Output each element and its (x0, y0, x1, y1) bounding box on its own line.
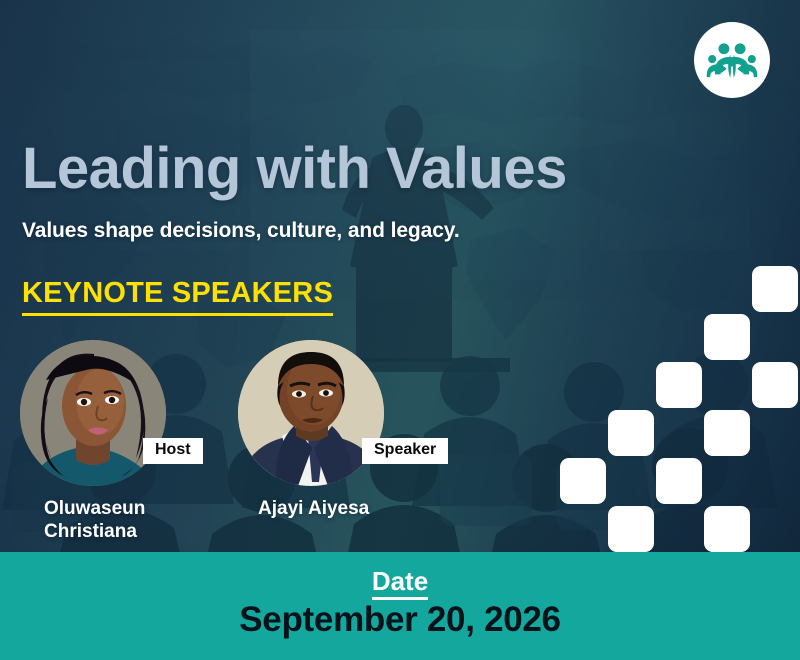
checkerboard-decoration (600, 266, 800, 550)
speaker-card-speaker: Speaker Ajayi Aiyesa (238, 340, 384, 486)
speaker-card-host: Host Oluwaseun Christiana (20, 340, 166, 486)
speaker-avatar-host (20, 340, 166, 486)
event-poster: Leading with Values Values shape decisio… (0, 0, 800, 660)
date-footer-band: Date September 20, 2026 (0, 552, 800, 660)
keynote-speakers-heading: KEYNOTE SPEAKERS (22, 277, 333, 316)
date-label: Date (0, 566, 800, 597)
date-label-text: Date (372, 566, 428, 600)
poster-title: Leading with Values (22, 139, 567, 200)
date-value: September 20, 2026 (0, 600, 800, 640)
organization-logo (694, 22, 770, 98)
people-group-logo-icon (705, 39, 759, 81)
speaker-name: Ajayi Aiyesa (258, 497, 448, 520)
poster-subtitle: Values shape decisions, culture, and leg… (22, 219, 460, 243)
speaker-avatar-speaker (238, 340, 384, 486)
speaker-role-badge: Host (143, 438, 203, 464)
speaker-role-badge: Speaker (362, 438, 448, 464)
speaker-name: Oluwaseun Christiana (44, 497, 194, 543)
